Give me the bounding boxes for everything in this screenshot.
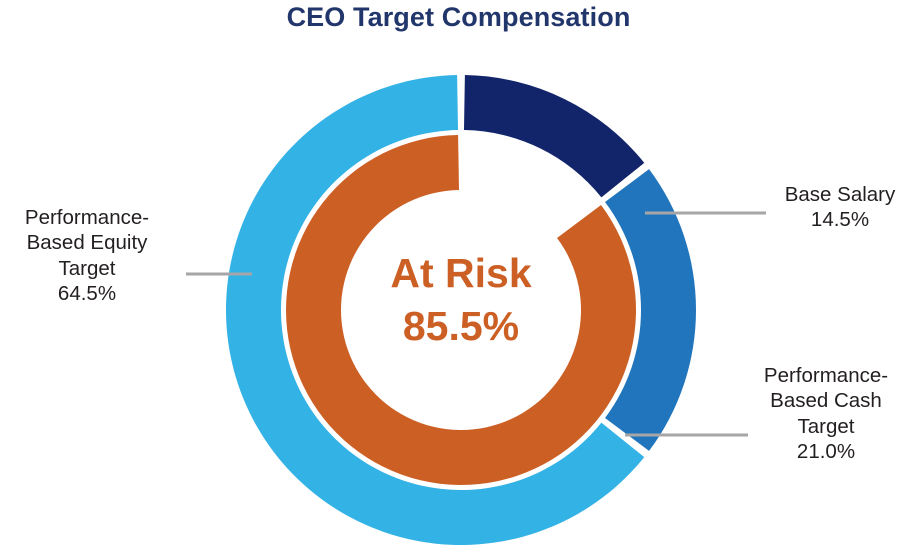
callout-perf-equity-line1: Performance- xyxy=(25,206,149,229)
callout-perf-cash-line2: Based Cash xyxy=(770,389,882,412)
callout-perf-cash-line3: Target xyxy=(798,415,855,438)
inner-ring-at-risk xyxy=(286,135,636,485)
callout-perf-equity-line2: Based Equity xyxy=(27,231,148,254)
callout-perf-cash: Performance- Based Cash Target 21.0% xyxy=(735,363,917,465)
callout-base-salary-line1: Base Salary xyxy=(785,183,896,206)
callout-base-salary: Base Salary 14.5% xyxy=(760,182,917,233)
callout-base-salary-percent: 14.5% xyxy=(760,207,917,232)
slice-at-risk[interactable] xyxy=(286,135,636,485)
callout-perf-cash-line1: Performance- xyxy=(764,364,888,387)
callout-perf-equity-percent: 64.5% xyxy=(0,281,178,306)
callout-perf-equity-line3: Target xyxy=(59,257,116,280)
chart-canvas: CEO Target Compensation At Risk 85.5% Pe… xyxy=(0,0,917,553)
callout-perf-cash-percent: 21.0% xyxy=(735,439,917,464)
slice-base-salary[interactable] xyxy=(464,75,644,197)
callout-perf-equity: Performance- Based Equity Target 64.5% xyxy=(0,205,178,307)
